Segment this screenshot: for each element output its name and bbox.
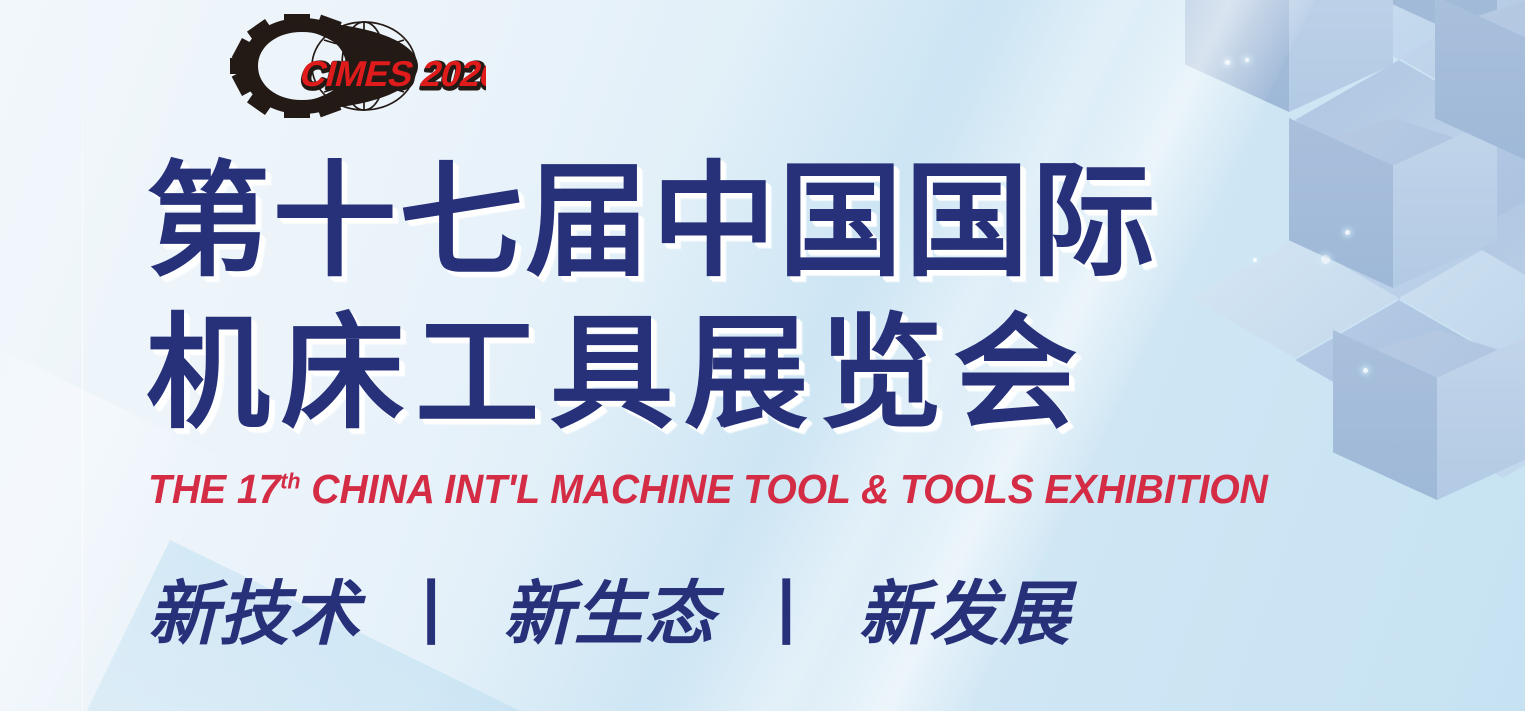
background-seam: [82, 0, 83, 711]
subtitle-rest: CHINA INT'L MACHINE TOOL & TOOLS EXHIBIT…: [300, 466, 1267, 512]
subtitle-english: THE 17th CHINA INT'L MACHINE TOOL & TOOL…: [148, 466, 1268, 512]
slogan-separator-1: 丨: [396, 572, 467, 656]
headline-line-2: 机床工具展览会: [146, 298, 1266, 450]
slogan-item-2: 新生态: [503, 575, 715, 653]
slogan: 新技术 丨 新生态 丨 新发展: [148, 572, 1070, 656]
slogan-item-3: 新发展: [858, 575, 1070, 653]
slogan-item-1: 新技术: [148, 575, 360, 653]
slogan-separator-2: 丨: [751, 572, 822, 656]
headline-chinese: 第十七届中国国际 机床工具展览会: [146, 146, 1266, 450]
subtitle-prefix: THE 17: [148, 466, 280, 512]
cimes-logo[interactable]: CIMES 2026 CIMES 2026: [146, 14, 486, 118]
headline-line-1: 第十七届中国国际: [146, 146, 1266, 298]
cimes-wordmark: CIMES 2026 CIMES 2026: [296, 54, 486, 96]
cimes-wordmark-text: CIMES 2026: [296, 54, 486, 94]
event-banner: CIMES 2026 CIMES 2026 第十七届中国国际 机床工具展览会 T…: [0, 0, 1525, 711]
subtitle-ordinal: th: [280, 468, 300, 493]
